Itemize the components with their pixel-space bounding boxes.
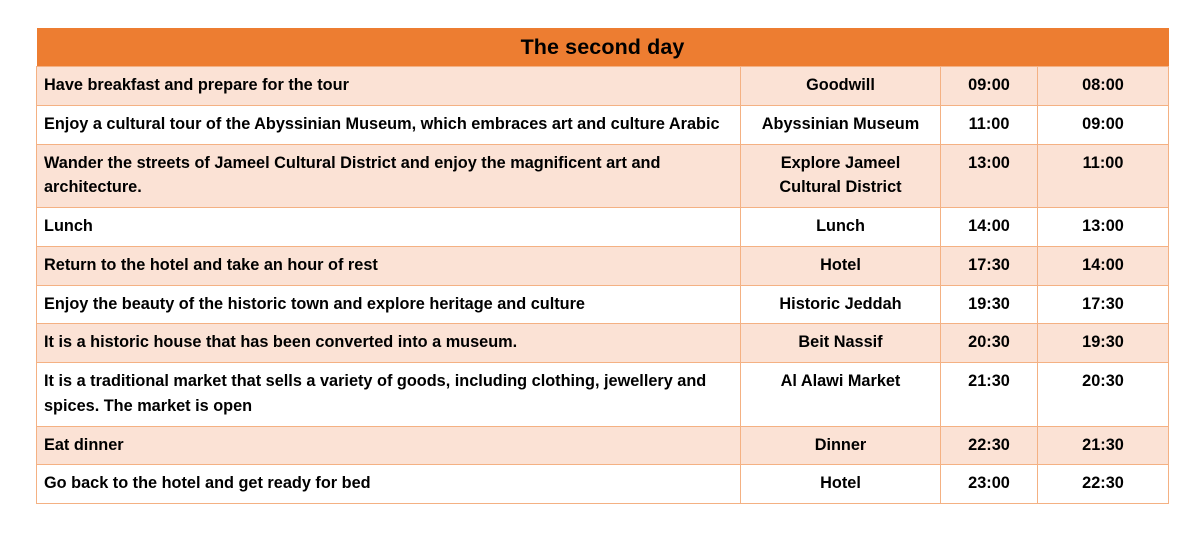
place-cell: Abyssinian Museum [741, 105, 941, 144]
table-row: LunchLunch14:0013:00 [37, 208, 1169, 247]
activity-cell: Have breakfast and prepare for the tour [37, 67, 741, 106]
end-time-cell: 21:30 [941, 363, 1038, 427]
table-row: Enjoy the beauty of the historic town an… [37, 285, 1169, 324]
start-time-cell: 20:30 [1038, 363, 1169, 427]
place-cell: Dinner [741, 426, 941, 465]
start-time-cell: 21:30 [1038, 426, 1169, 465]
end-time-cell: 14:00 [941, 208, 1038, 247]
table-row: Enjoy a cultural tour of the Abyssinian … [37, 105, 1169, 144]
end-time-cell: 19:30 [941, 285, 1038, 324]
end-time-cell: 11:00 [941, 105, 1038, 144]
activity-cell: Go back to the hotel and get ready for b… [37, 465, 741, 504]
itinerary-sheet: The second day Have breakfast and prepar… [36, 28, 1168, 504]
table-row: Eat dinnerDinner22:3021:30 [37, 426, 1169, 465]
start-time-cell: 13:00 [1038, 208, 1169, 247]
start-time-cell: 22:30 [1038, 465, 1169, 504]
table-row: Wander the streets of Jameel Cultural Di… [37, 144, 1169, 208]
place-cell: Hotel [741, 465, 941, 504]
place-cell: Historic Jeddah [741, 285, 941, 324]
end-time-cell: 22:30 [941, 426, 1038, 465]
activity-cell: Return to the hotel and take an hour of … [37, 246, 741, 285]
start-time-cell: 09:00 [1038, 105, 1169, 144]
table-row: Have breakfast and prepare for the tourG… [37, 67, 1169, 106]
activity-cell: It is a traditional market that sells a … [37, 363, 741, 427]
end-time-cell: 20:30 [941, 324, 1038, 363]
table-header: The second day [37, 28, 1169, 67]
itinerary-table: The second day Have breakfast and prepar… [36, 28, 1169, 504]
activity-cell: Enjoy the beauty of the historic town an… [37, 285, 741, 324]
title-row: The second day [37, 28, 1169, 67]
place-cell: Explore Jameel Cultural District [741, 144, 941, 208]
end-time-cell: 13:00 [941, 144, 1038, 208]
activity-cell: Enjoy a cultural tour of the Abyssinian … [37, 105, 741, 144]
table-row: Go back to the hotel and get ready for b… [37, 465, 1169, 504]
table-row: It is a traditional market that sells a … [37, 363, 1169, 427]
start-time-cell: 19:30 [1038, 324, 1169, 363]
place-cell: Goodwill [741, 67, 941, 106]
activity-cell: Eat dinner [37, 426, 741, 465]
table-row: It is a historic house that has been con… [37, 324, 1169, 363]
place-cell: Hotel [741, 246, 941, 285]
page-title: The second day [37, 28, 1169, 67]
end-time-cell: 09:00 [941, 67, 1038, 106]
end-time-cell: 17:30 [941, 246, 1038, 285]
start-time-cell: 14:00 [1038, 246, 1169, 285]
table-row: Return to the hotel and take an hour of … [37, 246, 1169, 285]
start-time-cell: 08:00 [1038, 67, 1169, 106]
place-cell: Lunch [741, 208, 941, 247]
start-time-cell: 11:00 [1038, 144, 1169, 208]
place-cell: Al Alawi Market [741, 363, 941, 427]
activity-cell: It is a historic house that has been con… [37, 324, 741, 363]
start-time-cell: 17:30 [1038, 285, 1169, 324]
table-body: Have breakfast and prepare for the tourG… [37, 67, 1169, 504]
end-time-cell: 23:00 [941, 465, 1038, 504]
activity-cell: Wander the streets of Jameel Cultural Di… [37, 144, 741, 208]
activity-cell: Lunch [37, 208, 741, 247]
place-cell: Beit Nassif [741, 324, 941, 363]
